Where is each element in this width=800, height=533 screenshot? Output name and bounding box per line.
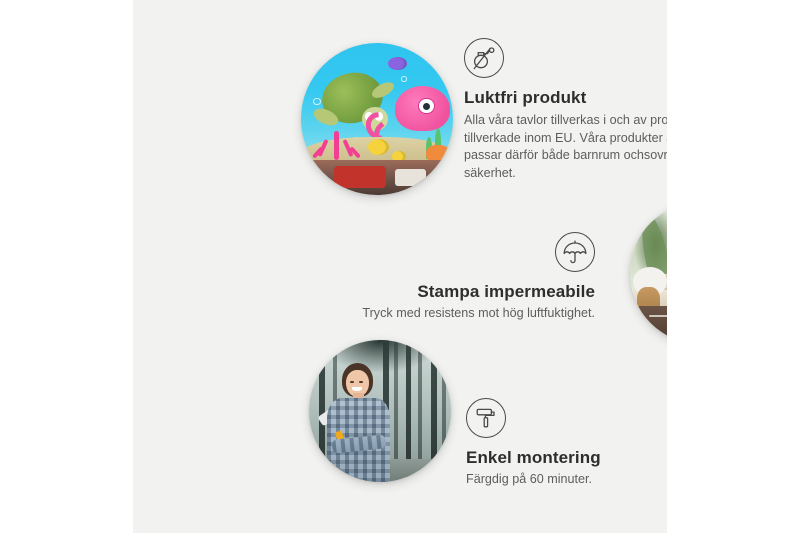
feature-title: Enkel montering: [466, 447, 667, 468]
feature-easy-mounting: Enkel montering Färgdig på 60 minuter.: [466, 398, 667, 489]
feature-waterproof-print: Stampa impermeabile Tryck med resistens …: [333, 232, 595, 323]
umbrella-icon: [555, 232, 595, 272]
forest-scene: [309, 340, 451, 482]
eye: [359, 381, 363, 383]
feature-odour-free: Luktfri produkt Alla våra tavlor tillver…: [464, 38, 667, 182]
underwater-cartoon-photo: [301, 43, 453, 195]
bathroom-scene: [630, 202, 667, 344]
feature-body: Tryck med resistens mot hög luftfuktighe…: [333, 305, 595, 323]
underwater-scene: [301, 43, 453, 195]
forest-canopy: [309, 340, 451, 397]
no-fragrance-icon: [464, 38, 504, 78]
bubble-icon: [313, 98, 321, 106]
bathroom-wallpaper-photo: [630, 202, 667, 344]
wooden-cabinet: [639, 306, 667, 344]
smile: [352, 387, 362, 391]
bubble-icon: [401, 76, 406, 81]
screenshot-root: Luktfri produkt Alla våra tavlor tillver…: [0, 0, 800, 533]
coral-plant: [316, 127, 359, 160]
content-panel: Luktfri produkt Alla våra tavlor tillver…: [133, 0, 667, 533]
eye: [350, 381, 354, 383]
feature-body: Färgdig på 60 minuter.: [466, 471, 667, 489]
feature-body: Alla våra tavlor tillverkas i och av pro…: [464, 112, 667, 182]
feature-title: Stampa impermeabile: [333, 281, 595, 302]
woman-paint-roller-photo: [309, 340, 451, 482]
room-photo-strip: [301, 160, 453, 195]
paint-roller-icon: [466, 398, 506, 438]
feature-title: Luktfri produkt: [464, 87, 667, 108]
octopus-eye: [418, 98, 435, 115]
